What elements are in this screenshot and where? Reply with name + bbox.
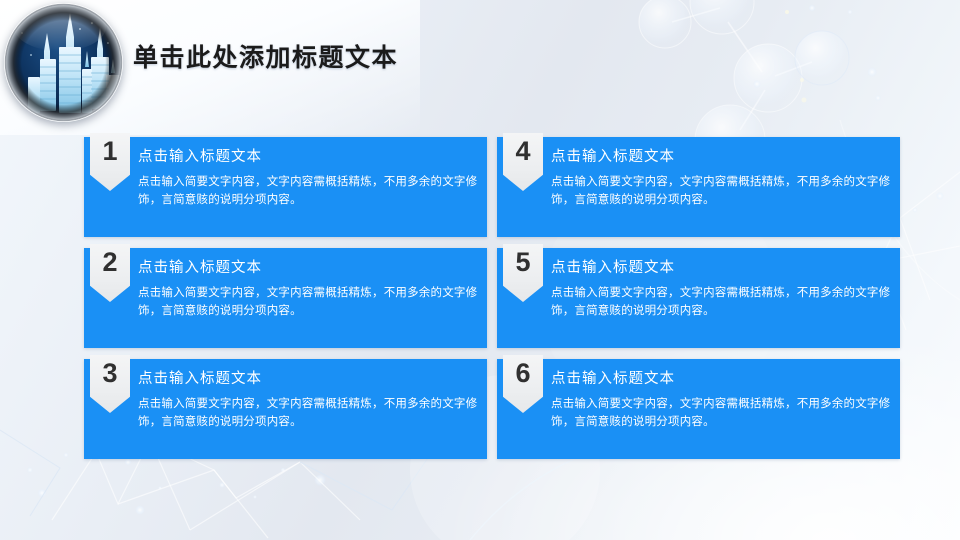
card-number-badge-6: 6 [503,355,543,413]
card-title-1: 点击输入标题文本 [138,145,262,166]
city-skyline-sphere-logo-icon [4,3,123,122]
card-body-4: 点击输入简要文字内容，文字内容需概括精炼，不用多余的文字修饰，言简意赅的说明分项… [551,174,891,210]
content-card-4[interactable]: 4 点击输入标题文本 点击输入简要文字内容，文字内容需概括精炼，不用多余的文字修… [497,137,900,237]
card-number-4: 4 [515,138,530,165]
card-number-badge-5: 5 [503,244,543,302]
card-number-3: 3 [102,360,117,387]
card-number-badge-3: 3 [90,355,130,413]
content-card-grid: 1 点击输入标题文本 点击输入简要文字内容，文字内容需概括精炼，不用多余的文字修… [84,137,888,459]
card-number-1: 1 [102,138,117,165]
card-body-1: 点击输入简要文字内容，文字内容需概括精炼，不用多余的文字修饰，言简意赅的说明分项… [138,174,478,210]
card-title-5: 点击输入标题文本 [551,256,675,277]
card-number-2: 2 [102,249,117,276]
card-number-5: 5 [515,249,530,276]
card-body-5: 点击输入简要文字内容，文字内容需概括精炼，不用多余的文字修饰，言简意赅的说明分项… [551,285,891,321]
content-card-1[interactable]: 1 点击输入标题文本 点击输入简要文字内容，文字内容需概括精炼，不用多余的文字修… [84,137,487,237]
card-body-6: 点击输入简要文字内容，文字内容需概括精炼，不用多余的文字修饰，言简意赅的说明分项… [551,396,891,432]
content-card-6[interactable]: 6 点击输入标题文本 点击输入简要文字内容，文字内容需概括精炼，不用多余的文字修… [497,359,900,459]
card-title-2: 点击输入标题文本 [138,256,262,277]
content-card-3[interactable]: 3 点击输入标题文本 点击输入简要文字内容，文字内容需概括精炼，不用多余的文字修… [84,359,487,459]
card-title-6: 点击输入标题文本 [551,367,675,388]
card-body-2: 点击输入简要文字内容，文字内容需概括精炼，不用多余的文字修饰，言简意赅的说明分项… [138,285,478,321]
card-number-badge-4: 4 [503,133,543,191]
content-card-2[interactable]: 2 点击输入标题文本 点击输入简要文字内容，文字内容需概括精炼，不用多余的文字修… [84,248,487,348]
page-title: 单击此处添加标题文本 [133,38,398,74]
content-card-5[interactable]: 5 点击输入标题文本 点击输入简要文字内容，文字内容需概括精炼，不用多余的文字修… [497,248,900,348]
card-number-badge-1: 1 [90,133,130,191]
card-number-6: 6 [515,360,530,387]
card-title-4: 点击输入标题文本 [551,145,675,166]
card-body-3: 点击输入简要文字内容，文字内容需概括精炼，不用多余的文字修饰，言简意赅的说明分项… [138,396,478,432]
card-title-3: 点击输入标题文本 [138,367,262,388]
card-number-badge-2: 2 [90,244,130,302]
